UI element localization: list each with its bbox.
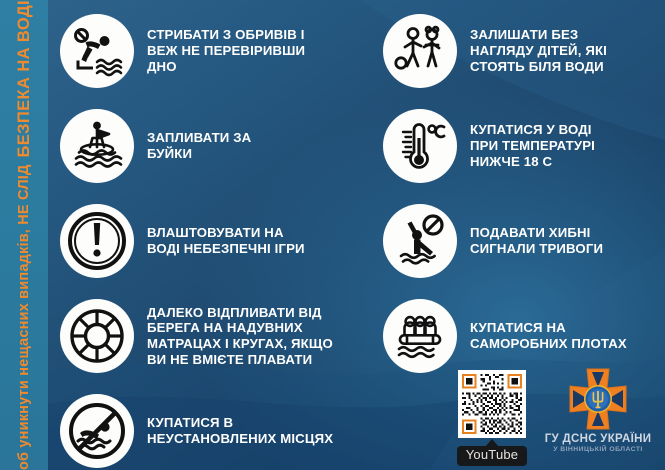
tooltip-arrow (485, 439, 499, 447)
safety-poster: БЕЗПЕКА НА ВОДІ Щоб уникнути нещасних ви… (0, 0, 665, 470)
buoy-icon (60, 109, 134, 183)
sidebar-banner: БЕЗПЕКА НА ВОДІ Щоб уникнути нещасних ви… (0, 0, 48, 470)
dsns-emblem-icon (562, 366, 634, 432)
poster-title: БЕЗПЕКА НА ВОДІ (16, 0, 33, 158)
youtube-label[interactable]: YouTube (458, 446, 526, 466)
life-ring-icon (60, 299, 134, 373)
rules-column-right: ЗАЛИШАТИ БЕЗ НАГЛЯДУ ДІТЕЙ, ЯКІ СТОЯТЬ Б… (383, 0, 665, 373)
rule-text: КУПАТИСЯ У ВОДІ ПРИ ТЕМПЕРАТУРІ НИЖЧЕ 18… (470, 122, 595, 169)
rule-item: ЗАПЛИВАТИ ЗА БУЙКИ (60, 109, 378, 183)
rule-text: КУПАТИСЯ В НЕУСТАНОВЛЕНИХ МІСЦЯХ (147, 415, 333, 446)
youtube-label-text: YouTube (457, 446, 528, 466)
exclamation-icon (60, 204, 134, 278)
rule-text: ВЛАШТОВУВАТИ НА ВОДІ НЕБЕЗПЕЧНІ ІГРИ (147, 225, 305, 256)
raft-icon (383, 299, 457, 373)
poster-subtitle: Щоб уникнути нещасних випадків, НЕ СЛІД (17, 165, 32, 470)
organization-block: ГУ ДСНС УКРАЇНИ У ВІННИЦЬКІЙ ОБЛАСТІ (536, 366, 660, 453)
rule-item: ВЛАШТОВУВАТИ НА ВОДІ НЕБЕЗПЕЧНІ ІГРИ (60, 204, 378, 278)
rule-item: КУПАТИСЯ НА САМОРОБНИХ ПЛОТАХ (383, 299, 665, 373)
rule-text: ДАЛЕКО ВІДПЛИВАТИ ВІД БЕРЕГА НА НАДУВНИХ… (147, 305, 333, 368)
false-alarm-icon (383, 204, 457, 278)
rule-text: СТРИБАТИ З ОБРИВІВ І ВЕЖ НЕ ПЕРЕВІРИВШИ … (147, 27, 305, 74)
qr-block[interactable]: YouTube (458, 370, 526, 466)
thermometer-icon (383, 109, 457, 183)
rules-column-left: СТРИБАТИ З ОБРИВІВ І ВЕЖ НЕ ПЕРЕВІРИВШИ … (60, 0, 378, 468)
organization-name: ГУ ДСНС УКРАЇНИ (536, 433, 660, 445)
rule-text: ЗАЛИШАТИ БЕЗ НАГЛЯДУ ДІТЕЙ, ЯКІ СТОЯТЬ Б… (470, 27, 607, 74)
rule-item: КУПАТИСЯ В НЕУСТАНОВЛЕНИХ МІСЦЯХ (60, 394, 378, 468)
children-unattended-icon (383, 14, 457, 88)
rule-item: ПОДАВАТИ ХИБНІ СИГНАЛИ ТРИВОГИ (383, 204, 665, 278)
qr-code-icon[interactable] (458, 370, 526, 438)
rule-item: ДАЛЕКО ВІДПЛИВАТИ ВІД БЕРЕГА НА НАДУВНИХ… (60, 299, 378, 373)
rule-item: СТРИБАТИ З ОБРИВІВ І ВЕЖ НЕ ПЕРЕВІРИВШИ … (60, 14, 378, 88)
rule-text: КУПАТИСЯ НА САМОРОБНИХ ПЛОТАХ (470, 320, 627, 351)
rule-item: ЗАЛИШАТИ БЕЗ НАГЛЯДУ ДІТЕЙ, ЯКІ СТОЯТЬ Б… (383, 14, 665, 88)
rule-text: ПОДАВАТИ ХИБНІ СИГНАЛИ ТРИВОГИ (470, 225, 603, 256)
rule-text: ЗАПЛИВАТИ ЗА БУЙКИ (147, 130, 251, 161)
organization-region: У ВІННИЦЬКІЙ ОБЛАСТІ (536, 446, 660, 453)
rule-item: КУПАТИСЯ У ВОДІ ПРИ ТЕМПЕРАТУРІ НИЖЧЕ 18… (383, 109, 665, 183)
no-diving-icon (60, 14, 134, 88)
no-swimming-icon (60, 394, 134, 468)
